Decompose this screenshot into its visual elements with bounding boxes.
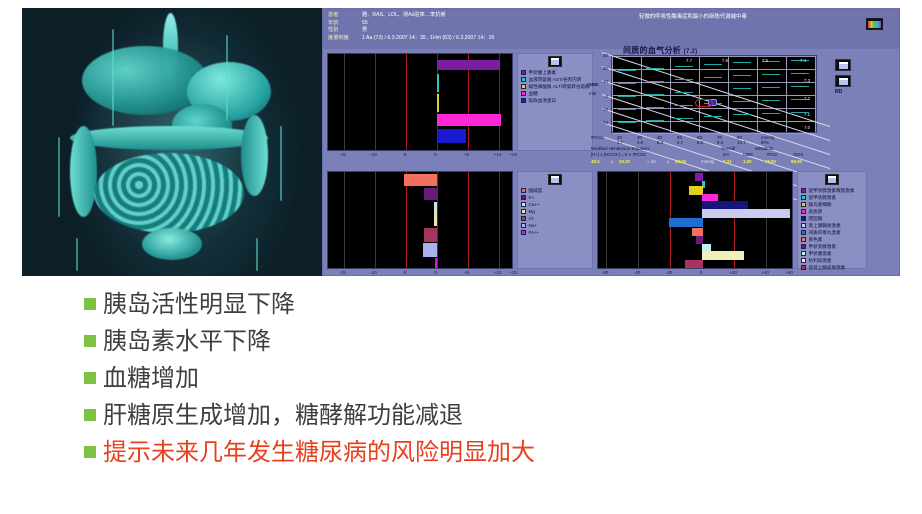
legend-swatch	[801, 265, 806, 270]
legend-swatch	[801, 209, 806, 214]
result-value-ipo2: 79.84	[765, 159, 776, 164]
henderson-equation: [H+] x [HCO3-] = K x !PCO2	[591, 152, 646, 157]
legend-item[interactable]: 甲状腺上腺素	[521, 70, 589, 76]
legend-label: Na+	[529, 223, 538, 229]
axis-tick: 0	[700, 270, 703, 275]
results-group-overall: Overall	[721, 146, 735, 151]
chart-bottom-left-plot	[328, 172, 512, 268]
gridline	[375, 54, 376, 150]
eq-operator-2: x	[667, 159, 669, 164]
bar-series-0	[437, 60, 500, 70]
bullet-text: 肝糖原生成增加，糖酵解功能减退	[103, 399, 463, 431]
nomogram-y-tick: 20	[591, 66, 608, 71]
legend-swatch	[521, 216, 526, 221]
side-tool-button-rd[interactable]	[835, 75, 851, 87]
nomogram-x-tick-kpa: 4.0	[637, 140, 643, 145]
nomogram-x-label: !PCO2	[591, 135, 604, 140]
axis-tick: +60	[785, 270, 793, 275]
legend-label: 黄色素	[809, 237, 823, 243]
legend-label: 甲状腺激素	[809, 251, 832, 257]
spectrum-swatch-icon	[866, 18, 883, 30]
legend-item[interactable]: 血液转氨酶 AST/谷丙内转	[521, 77, 589, 83]
axis-tick: +15	[509, 270, 517, 275]
axis-tick: -5	[402, 270, 406, 275]
bar-series-4	[437, 129, 466, 143]
legend-label: 甲状腺上腺素	[529, 70, 557, 76]
bullet-item-4: 提示未来几年发生糖尿病的风险明显加大	[84, 436, 884, 468]
bullet-marker-icon	[84, 335, 96, 347]
bar-series-3	[434, 214, 437, 226]
legend-label: 促甲状腺激素	[809, 195, 837, 201]
bullet-list: 胰岛活性明显下降 胰岛素水平下降 血糖增加 肝糖原生成增加，糖酵解功能减退 提示…	[84, 288, 884, 473]
bar-series-7	[692, 228, 703, 236]
nomogram-ph-label: 7.2	[804, 96, 810, 101]
nomogram-x-tick-kpa: 9.3	[717, 140, 723, 145]
axis-tick: +20	[729, 270, 737, 275]
legend-bottom-right: 促甲状腺激素释放激素 促甲状腺激素 胰岛素细胞 皮质醇 醛固酮	[797, 171, 867, 269]
legend-label: 吸收血清蛋白	[529, 98, 557, 104]
bar-series-1	[424, 188, 437, 200]
bullet-marker-icon	[84, 409, 96, 421]
result-label-iso2: !SO2	[793, 152, 803, 157]
axis-tick: +40	[761, 270, 769, 275]
legend-swatch	[521, 77, 526, 82]
legend-swatch	[801, 237, 806, 242]
chart-tool-button[interactable]	[825, 174, 839, 185]
bar-series-2	[434, 202, 437, 214]
vessel-line	[280, 126, 282, 201]
legend-bottom-left: 酸碱度 K+ Ca++ Mg Cl-	[517, 171, 593, 269]
vessel-line	[58, 137, 60, 217]
legend-swatch	[801, 216, 806, 221]
legend-label: 碱性磷酸酶 ALT/转氨转谷氨酶	[529, 84, 590, 90]
gridline	[375, 172, 376, 268]
monitor-panel: 患者 雅、RAS、LDL、测Ad驻率…李抗睿 年龄 55 性别 男 度量制度 1…	[322, 8, 900, 276]
nomogram-ph-label: 7.7	[686, 58, 692, 63]
legend-item[interactable]: 间质的睾丸激素	[801, 230, 863, 236]
chart-bottom-right-plot	[598, 172, 792, 268]
bar-series-11	[685, 260, 703, 268]
axis-tick: +10	[494, 270, 502, 275]
chart-bottom-right[interactable]	[597, 171, 793, 269]
header-row-age: 年龄 55	[328, 20, 894, 28]
chart-top-left-plot	[328, 54, 512, 150]
legend-label: 酸碱度	[529, 188, 543, 194]
legend-swatch	[801, 258, 806, 263]
legend-label: Ca++	[529, 202, 540, 208]
bullet-item-3: 肝糖原生成增加，糖酵解功能减退	[84, 399, 884, 431]
bar-series-4	[424, 228, 437, 242]
descending-colon-organ	[70, 126, 97, 217]
axis-tick: +5	[464, 152, 469, 157]
nomogram-x-tick-kpa: 8.0	[697, 140, 703, 145]
nomogram-y-tick: -20	[589, 120, 608, 125]
header-value-sex: 男	[362, 27, 367, 35]
nomogram-y-axis-unit: mM	[589, 91, 596, 96]
legend-swatch	[521, 230, 526, 235]
vessel-line	[76, 238, 78, 270]
vessel-line	[256, 238, 258, 270]
header-row-patient: 患者 雅、RAS、LDL、测Ad驻率…李抗睿	[328, 12, 894, 20]
legend-item[interactable]: Na+	[521, 223, 589, 229]
legend-swatch	[521, 188, 526, 193]
legend-item[interactable]: 促甲状腺激素	[801, 195, 863, 201]
bullet-item-2: 血糖增加	[84, 362, 884, 394]
nomogram-plot[interactable]: 7.7 7.6 7.5 7.4 7.3 7.2 7.1 7.0	[611, 55, 817, 133]
transverse-colon-organ	[70, 126, 268, 150]
bar-series-6	[435, 258, 437, 268]
bullet-marker-icon	[84, 372, 96, 384]
patient-point-highlight	[695, 99, 713, 107]
nomogram-y-axis-label: !SBE	[587, 83, 598, 88]
legend-item[interactable]: 甲状旁腺激素	[801, 244, 863, 250]
bullet-item-0: 胰岛活性明显下降	[84, 288, 884, 320]
chart-top-left-axis: -15 -10 -5 0 +5 +10 +15	[327, 152, 513, 161]
axis-tick: -20	[666, 270, 673, 275]
eq-value-pco2: 52.00	[675, 159, 686, 164]
bullet-marker-icon	[84, 298, 96, 310]
legend-label: 促肾上腺皮质激素	[809, 265, 846, 271]
legend-swatch	[801, 202, 806, 207]
vessel-line	[226, 35, 228, 121]
nomogram-x-tick-kpa: 10.7	[737, 140, 746, 145]
chart-top-left[interactable]	[327, 53, 513, 151]
legend-label: Fe++	[529, 230, 540, 236]
bar-series-5	[423, 243, 437, 257]
eq-value-hco3: 25.20	[619, 159, 630, 164]
legend-item[interactable]: Mg	[521, 209, 589, 215]
legend-label: Mg	[529, 209, 535, 215]
result-value-iso2: 98.00	[791, 159, 802, 164]
axis-tick: -10	[370, 152, 377, 157]
legend-item[interactable]: 皮质醇	[801, 209, 863, 215]
monitor-header: 患者 雅、RAS、LDL、测Ad驻率…李抗睿 年龄 55 性别 男 度量制度 1…	[323, 9, 899, 49]
bullet-marker-icon	[84, 446, 96, 458]
chart-bottom-left-axis: -15 -10 -5 0 +5 +10 +15	[327, 270, 513, 276]
bullet-text: 胰岛素水平下降	[103, 325, 271, 357]
result-label-ipo2: !PO2	[767, 152, 777, 157]
legend-item[interactable]: 促甲状腺激素释放激素	[801, 188, 863, 194]
bar-series-10	[702, 251, 744, 260]
legend-label: 皮质醇	[809, 209, 823, 215]
legend-label: 胰岛素细胞	[809, 202, 832, 208]
side-tool-button-top[interactable]	[835, 59, 851, 71]
legend-item[interactable]: 甲状腺激素	[801, 251, 863, 257]
header-value-patient: 雅、RAS、LDL、测Ad驻率…李抗睿	[362, 12, 446, 20]
bladder-organ	[142, 228, 202, 260]
nomogram-title-text: 间质的血气分析	[623, 46, 681, 55]
result-label-ph: pH	[723, 152, 729, 157]
ascending-colon-organ	[241, 115, 268, 195]
header-label-units: 度量制度	[328, 35, 362, 43]
result-label-isbe: !SBE	[743, 152, 753, 157]
legend-swatch	[801, 244, 806, 249]
axis-tick: 0	[434, 270, 437, 275]
eq-operator-1: x	[611, 159, 613, 164]
legend-swatch	[521, 84, 526, 89]
gridline	[344, 172, 345, 268]
bar-series-3	[437, 114, 501, 126]
eq-constant: = 24	[647, 159, 656, 164]
axis-tick: +15	[509, 152, 517, 157]
legend-label: Cl-	[529, 216, 535, 222]
legend-swatch	[801, 230, 806, 235]
legend-swatch	[801, 195, 806, 200]
legend-item[interactable]: 吸收血清蛋白	[521, 98, 589, 104]
nomogram-x-tick-kpa: 2.7	[617, 140, 623, 145]
header-diagnosis-text: 轻微的呼吸性酸毒症和最小的新陈代谢碱中毒	[639, 13, 779, 21]
bullet-item-1: 胰岛素水平下降	[84, 325, 884, 357]
small-intestine-organ	[94, 153, 244, 233]
nomogram-ph-label: 7.0	[804, 125, 810, 130]
bar-series-2	[437, 94, 440, 112]
bullet-text-alert: 提示未来几年发生糖尿病的风险明显加大	[103, 436, 535, 468]
axis-tick: -10	[370, 270, 377, 275]
legend-item[interactable]: 黄色素	[801, 237, 863, 243]
axis-tick: -40	[634, 270, 641, 275]
legend-label: 血糖	[529, 91, 538, 97]
vessel-line	[112, 29, 114, 125]
chart-tool-button[interactable]	[548, 56, 562, 67]
header-value-units: 1 Aa (73) / 6.3.2007 14：35 , 1Hm (63) / …	[362, 35, 494, 43]
bar-series-2	[689, 186, 703, 195]
gridline	[499, 172, 500, 268]
legend-swatch	[521, 223, 526, 228]
chart-bottom-left[interactable]	[327, 171, 513, 269]
gridline	[344, 54, 345, 150]
nomogram-y-tick: 30	[591, 53, 608, 58]
slide-root: 患者 雅、RAS、LDL、测Ad驻率…李抗睿 年龄 55 性别 男 度量制度 1…	[0, 0, 922, 514]
result-value-ph: 7.31	[723, 159, 732, 164]
bar-series-6	[669, 218, 703, 227]
media-row: 患者 雅、RAS、LDL、测Ad驻率…李抗睿 年龄 55 性别 男 度量制度 1…	[22, 8, 900, 276]
gridline	[638, 172, 639, 268]
gridline	[606, 172, 607, 268]
legend-swatch	[521, 91, 526, 96]
chart-bottom-right-axis: -60 -40 -20 0 +20 +40 +60	[597, 270, 793, 276]
legend-item[interactable]: Fe++	[521, 230, 589, 236]
legend-swatch	[521, 70, 526, 75]
legend-item[interactable]: 血糖	[521, 91, 589, 97]
anatomy-image	[22, 8, 322, 276]
legend-label: K+	[529, 195, 535, 201]
gridline-threshold	[406, 54, 407, 150]
header-label-sex: 性别	[328, 27, 362, 35]
chart-tool-button[interactable]	[548, 174, 562, 185]
bar-series-0	[695, 173, 703, 181]
axis-tick: -5	[402, 152, 406, 157]
nomogram-y-tick: -10	[589, 107, 608, 112]
nomogram-x-unit-kpa: kPa	[761, 140, 769, 145]
legend-swatch	[521, 98, 526, 103]
nomogram-ph-label: 7.3	[804, 78, 810, 83]
legend-top: 甲状腺上腺素 血液转氨酶 AST/谷丙内转 碱性磷酸酶 ALT/转氨转谷氨酶 血…	[517, 53, 593, 151]
axis-tick: 0	[434, 152, 437, 157]
gridline	[766, 172, 767, 268]
legend-item[interactable]: 抗利尿激素	[801, 258, 863, 264]
henderson-equation-title: Modified Henderson Equation:	[591, 146, 650, 151]
header-label-patient: 患者	[328, 12, 362, 20]
axis-tick: -15	[339, 152, 346, 157]
legend-label: 间质的睾丸激素	[809, 230, 841, 236]
eq-unit: mmHg	[701, 159, 714, 164]
gridline-threshold	[468, 172, 469, 268]
header-row-units: 度量制度 1 Aa (73) / 6.3.2007 14：35 , 1Hm (6…	[328, 35, 894, 43]
nomogram-ph-label: 7.5	[762, 58, 768, 63]
eq-value-h: 49.5	[591, 159, 600, 164]
results-group-metabolic: Metabolic	[755, 146, 774, 151]
gridline-threshold	[406, 172, 407, 268]
legend-swatch	[801, 251, 806, 256]
legend-label: 甲状旁腺激素	[809, 244, 837, 250]
legend-item[interactable]: Cl-	[521, 216, 589, 222]
axis-tick: +10	[494, 152, 502, 157]
result-value-isbe: 1.00	[743, 159, 752, 164]
legend-swatch	[521, 202, 526, 207]
legend-label: 肾上腺髓质激素	[809, 223, 841, 229]
legend-item[interactable]: 促肾上腺皮质激素	[801, 265, 863, 271]
legend-item[interactable]: 胰岛素细胞	[801, 202, 863, 208]
nomogram-ph-label: 7.1	[804, 112, 810, 117]
bar-series-1	[437, 74, 440, 92]
legend-swatch	[521, 209, 526, 214]
bar-series-8	[696, 236, 703, 244]
legend-label: 抗利尿激素	[809, 258, 832, 264]
legend-swatch	[801, 223, 806, 228]
nomogram-ph-label: 7.6	[722, 58, 728, 63]
header-row-sex: 性别 男	[328, 27, 894, 35]
legend-item[interactable]: 酸碱度	[521, 188, 589, 194]
axis-tick: +5	[464, 270, 469, 275]
nomogram-ph-label: 7.4	[800, 58, 806, 63]
legend-item[interactable]: 碱性磷酸酶 ALT/转氨转谷氨酶	[521, 84, 589, 90]
bar-series-5	[702, 209, 790, 218]
bullet-text: 胰岛活性明显下降	[103, 288, 295, 320]
bar-series-0	[404, 174, 437, 186]
axis-tick: -15	[339, 270, 346, 275]
legend-label: 血液转氨酶 AST/谷丙内转	[529, 77, 582, 83]
legend-swatch	[521, 195, 526, 200]
side-button-label: RD	[835, 89, 842, 95]
legend-item[interactable]: 醛固酮	[801, 216, 863, 222]
nomogram-x-tick-kpa: 6.7	[677, 140, 683, 145]
axis-tick: -60	[602, 270, 609, 275]
legend-item[interactable]: Ca++	[521, 202, 589, 208]
bullet-text: 血糖增加	[103, 362, 199, 394]
legend-label: 促甲状腺激素释放激素	[809, 188, 855, 194]
legend-label: 醛固酮	[809, 216, 823, 222]
nomogram-x-tick-kpa: 5.3	[657, 140, 663, 145]
legend-item[interactable]: K+	[521, 195, 589, 201]
legend-item[interactable]: 肾上腺髓质激素	[801, 223, 863, 229]
legend-swatch	[801, 188, 806, 193]
